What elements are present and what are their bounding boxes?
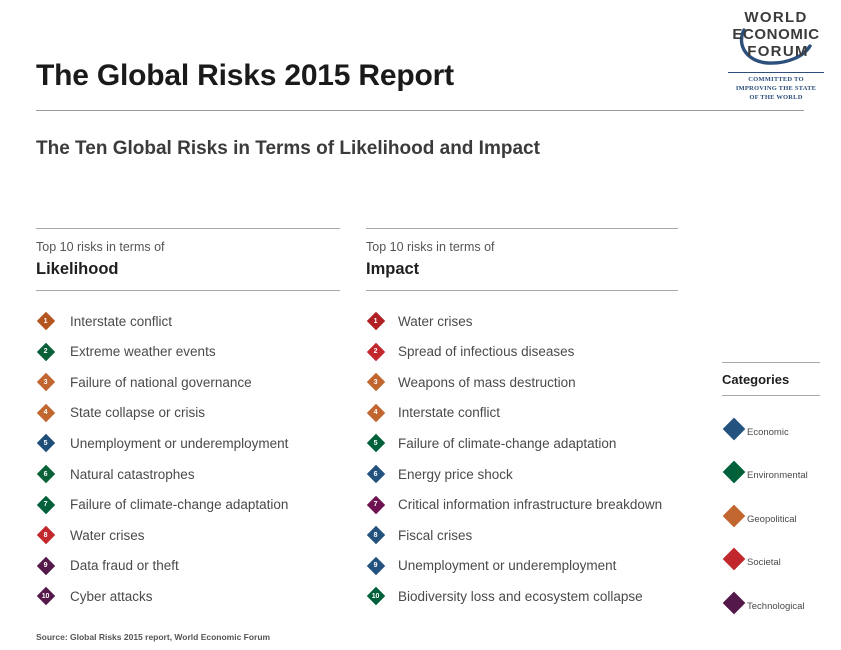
risk-item[interactable]: 10Biodiversity loss and ecosystem collap…	[366, 581, 678, 612]
risk-label: Fiscal crises	[398, 528, 472, 543]
category-diamond-icon	[722, 504, 746, 528]
risk-label: Extreme weather events	[70, 344, 216, 359]
rank-number: 6	[36, 465, 55, 484]
legend-divider-bottom	[722, 395, 820, 396]
rank-diamond-icon: 3	[36, 373, 55, 392]
risk-item[interactable]: 7Failure of climate-change adaptation	[36, 489, 340, 520]
rank-number: 10	[366, 587, 385, 606]
legend-item[interactable]: Geopolitical	[722, 494, 820, 538]
risk-item[interactable]: 7Critical information infrastructure bre…	[366, 489, 678, 520]
rank-diamond-icon: 8	[36, 526, 55, 545]
rank-diamond-icon: 9	[36, 556, 55, 575]
risk-label: Unemployment or underemployment	[70, 436, 288, 451]
risk-label: Water crises	[398, 314, 473, 329]
risk-item[interactable]: 6Natural catastrophes	[36, 459, 340, 490]
rank-number: 10	[36, 587, 55, 606]
risk-label: Data fraud or theft	[70, 558, 179, 573]
rank-diamond-icon: 4	[36, 403, 55, 422]
wef-logo: WORLD ECONOMIC FORUM COMMITTED TO IMPROV…	[722, 6, 830, 104]
legend-label: Economic	[747, 427, 789, 438]
rank-number: 8	[366, 526, 385, 545]
rank-diamond-icon: 1	[366, 312, 385, 331]
column-divider-bottom	[36, 290, 340, 291]
risk-item[interactable]: 2Spread of infectious diseases	[366, 336, 678, 367]
column-divider-top	[366, 228, 678, 229]
risk-label: Biodiversity loss and ecosystem collapse	[398, 589, 643, 604]
rank-number: 8	[36, 526, 55, 545]
rank-number: 2	[36, 342, 55, 361]
column-likelihood: Top 10 risks in terms of Likelihood 1Int…	[36, 228, 340, 612]
risk-label: Spread of infectious diseases	[398, 344, 574, 359]
risk-item[interactable]: 6Energy price shock	[366, 459, 678, 490]
rank-diamond-icon: 4	[366, 403, 385, 422]
rank-number: 6	[366, 465, 385, 484]
risk-item[interactable]: 9Data fraud or theft	[36, 551, 340, 582]
rank-number: 4	[36, 403, 55, 422]
risk-label: Water crises	[70, 528, 145, 543]
legend-divider-top	[722, 362, 820, 363]
category-diamond-icon	[722, 417, 746, 441]
rank-number: 9	[36, 556, 55, 575]
risk-label: Failure of climate-change adaptation	[70, 497, 288, 512]
svg-text:FORUM: FORUM	[747, 43, 809, 60]
risk-item[interactable]: 1Interstate conflict	[36, 306, 340, 337]
rank-diamond-icon: 5	[36, 434, 55, 453]
risk-label: Failure of climate-change adaptation	[398, 436, 616, 451]
wef-tagline-line-1: COMMITTED TO	[728, 76, 824, 85]
diamond-shape	[723, 461, 746, 484]
risk-label: Energy price shock	[398, 467, 513, 482]
rank-diamond-icon: 1	[36, 312, 55, 331]
risk-item[interactable]: 9Unemployment or underemployment	[366, 551, 678, 582]
risk-item[interactable]: 4State collapse or crisis	[36, 398, 340, 429]
diamond-shape	[723, 417, 746, 440]
rank-number: 7	[366, 495, 385, 514]
rank-number: 5	[36, 434, 55, 453]
rank-diamond-icon: 7	[36, 495, 55, 514]
risk-label: Failure of national governance	[70, 375, 252, 390]
rank-diamond-icon: 2	[366, 342, 385, 361]
legend-item[interactable]: Environmental	[722, 451, 820, 495]
svg-text:WORLD: WORLD	[744, 9, 807, 26]
risk-item[interactable]: 5Failure of climate-change adaptation	[366, 428, 678, 459]
column-divider-bottom	[366, 290, 678, 291]
risk-label: Interstate conflict	[70, 314, 172, 329]
legend-item[interactable]: Economic	[722, 407, 820, 451]
risk-label: Unemployment or underemployment	[398, 558, 616, 573]
risk-item[interactable]: 8Water crises	[36, 520, 340, 551]
risk-item[interactable]: 1Water crises	[366, 306, 678, 337]
wef-tagline-line-2: IMPROVING THE STATE	[728, 85, 824, 94]
column-impact: Top 10 risks in terms of Impact 1Water c…	[366, 228, 678, 612]
column-divider-top	[36, 228, 340, 229]
rank-diamond-icon: 2	[36, 342, 55, 361]
rank-diamond-icon: 8	[366, 526, 385, 545]
rank-number: 1	[366, 312, 385, 331]
column-heading: Impact	[366, 260, 678, 280]
rank-number: 4	[366, 403, 385, 422]
risk-label: State collapse or crisis	[70, 405, 205, 420]
source-note: Source: Global Risks 2015 report, World …	[36, 632, 270, 642]
legend-label: Geopolitical	[747, 514, 797, 525]
risk-list-likelihood: 1Interstate conflict2Extreme weather eve…	[36, 306, 340, 612]
rank-diamond-icon: 6	[36, 465, 55, 484]
title-divider	[36, 110, 804, 111]
risk-label: Critical information infrastructure brea…	[398, 497, 662, 512]
svg-text:ECONOMIC: ECONOMIC	[732, 26, 819, 43]
category-diamond-icon	[722, 547, 746, 571]
rank-diamond-icon: 10	[36, 587, 55, 606]
wef-logo-mark: WORLD ECONOMIC FORUM	[722, 6, 830, 68]
risk-item[interactable]: 8Fiscal crises	[366, 520, 678, 551]
diamond-shape	[723, 548, 746, 571]
legend-item[interactable]: Technological	[722, 581, 820, 625]
risk-item[interactable]: 3Failure of national governance	[36, 367, 340, 398]
rank-diamond-icon: 6	[366, 465, 385, 484]
diamond-shape	[723, 591, 746, 614]
categories-legend: Categories EconomicEnvironmentalGeopolit…	[722, 362, 820, 625]
rank-diamond-icon: 3	[366, 373, 385, 392]
risk-list-impact: 1Water crises2Spread of infectious disea…	[366, 306, 678, 612]
rank-number: 3	[36, 373, 55, 392]
page-subtitle: The Ten Global Risks in Terms of Likelih…	[36, 138, 540, 160]
category-diamond-icon	[722, 460, 746, 484]
column-kicker: Top 10 risks in terms of	[36, 240, 340, 255]
column-kicker: Top 10 risks in terms of	[366, 240, 678, 255]
diamond-shape	[723, 504, 746, 527]
rank-number: 9	[366, 556, 385, 575]
rank-diamond-icon: 5	[366, 434, 385, 453]
rank-number: 5	[366, 434, 385, 453]
legend-item[interactable]: Societal	[722, 538, 820, 582]
risk-item[interactable]: 10Cyber attacks	[36, 581, 340, 612]
risk-label: Interstate conflict	[398, 405, 500, 420]
legend-label: Societal	[747, 557, 781, 568]
rank-number: 2	[366, 342, 385, 361]
legend-list: EconomicEnvironmentalGeopoliticalSocieta…	[722, 407, 820, 625]
rank-number: 7	[36, 495, 55, 514]
rank-diamond-icon: 9	[366, 556, 385, 575]
rank-diamond-icon: 10	[366, 587, 385, 606]
risk-item[interactable]: 3Weapons of mass destruction	[366, 367, 678, 398]
risk-item[interactable]: 4Interstate conflict	[366, 398, 678, 429]
legend-title: Categories	[722, 372, 820, 387]
category-diamond-icon	[722, 591, 746, 615]
rank-number: 1	[36, 312, 55, 331]
rank-number: 3	[366, 373, 385, 392]
risk-label: Cyber attacks	[70, 589, 153, 604]
legend-label: Environmental	[747, 470, 808, 481]
wef-tagline-line-3: OF THE WORLD	[728, 94, 824, 103]
legend-label: Technological	[747, 601, 805, 612]
risk-label: Natural catastrophes	[70, 467, 195, 482]
column-heading: Likelihood	[36, 260, 340, 280]
risk-item[interactable]: 2Extreme weather events	[36, 336, 340, 367]
wef-logo-tagline: COMMITTED TO IMPROVING THE STATE OF THE …	[728, 72, 824, 102]
page-title: The Global Risks 2015 Report	[36, 59, 454, 93]
risk-item[interactable]: 5Unemployment or underemployment	[36, 428, 340, 459]
rank-diamond-icon: 7	[366, 495, 385, 514]
risk-label: Weapons of mass destruction	[398, 375, 576, 390]
